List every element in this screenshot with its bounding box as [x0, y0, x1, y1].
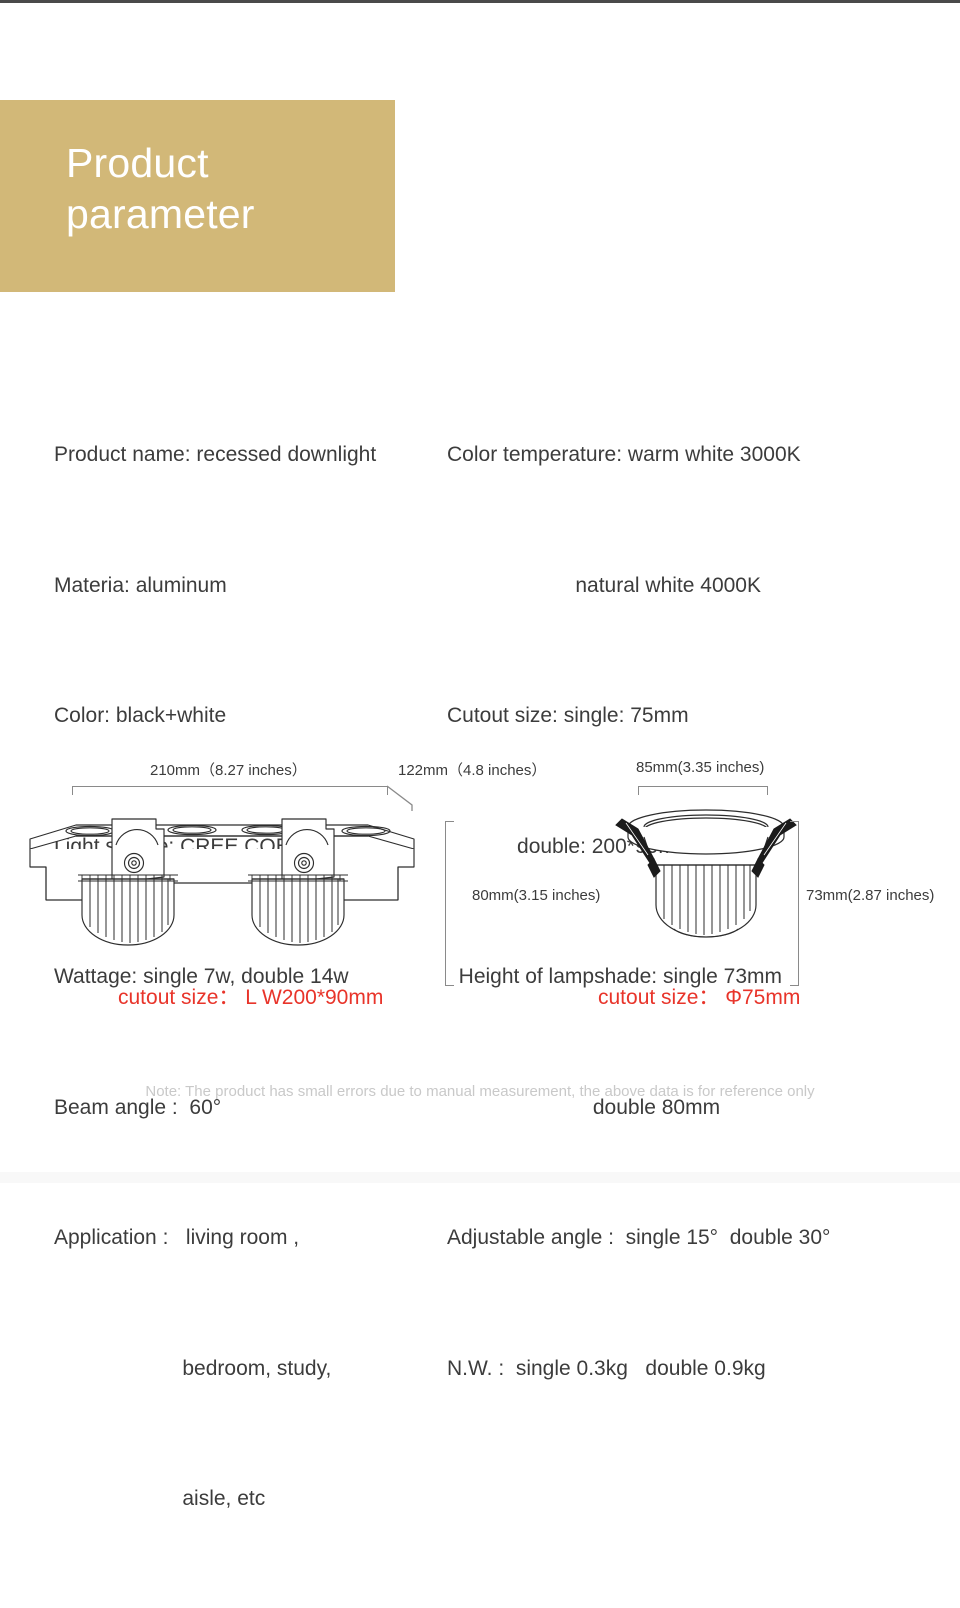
top-edge-strip: [0, 0, 960, 3]
left-height-dimension-label: 80mm(3.15 inches): [472, 887, 600, 904]
right-width-dimension-label: 85mm(3.35 inches): [636, 759, 764, 776]
right-height-bracket: [790, 821, 799, 986]
left-cutout-size-label: cutout size： L W200*90mm: [118, 981, 383, 1011]
double-downlight-drawing: [16, 805, 428, 965]
right-height-dimension-label: 73mm(2.87 inches): [806, 887, 934, 904]
spec-adjustable-angle: Adjustable angle : single 15° double 30°: [447, 1216, 947, 1260]
page-title: Product parameter: [66, 138, 386, 240]
spec-color-temperature-line2: natural white 4000K: [447, 564, 947, 608]
spec-application: Application : living room ,: [54, 1216, 454, 1260]
left-width-dimension-label: 210mm（8.27 inches）: [150, 759, 307, 780]
left-height-bracket: [445, 821, 454, 986]
spec-color: Color: black+white: [54, 694, 454, 738]
spec-color-temperature: Color temperature: warm white 3000K: [447, 433, 947, 477]
bottom-edge-strip: [0, 1172, 960, 1183]
product-dimension-diagrams: 210mm（8.27 inches） 122mm（4.8 inches）: [0, 745, 960, 1035]
left-width-bracket: [72, 786, 388, 795]
spec-product-name: Product name: recessed downlight: [54, 433, 454, 477]
spec-cutout-size: Cutout size: single: 75mm: [447, 694, 947, 738]
right-width-bracket: [638, 786, 768, 795]
right-cutout-size-label: cutout size： Φ75mm: [598, 981, 800, 1011]
measurement-note: Note: The product has small errors due t…: [0, 1083, 960, 1100]
spec-net-weight: N.W. : single 0.3kg double 0.9kg: [447, 1347, 947, 1391]
product-parameter-banner: Product parameter: [0, 100, 395, 292]
single-downlight-drawing: [608, 803, 804, 963]
spec-application-line2: bedroom, study,: [54, 1347, 454, 1391]
left-depth-dimension-label: 122mm（4.8 inches）: [398, 759, 546, 780]
spec-material: Materia: aluminum: [54, 564, 454, 608]
spec-application-line3: aisle, etc: [54, 1477, 454, 1521]
